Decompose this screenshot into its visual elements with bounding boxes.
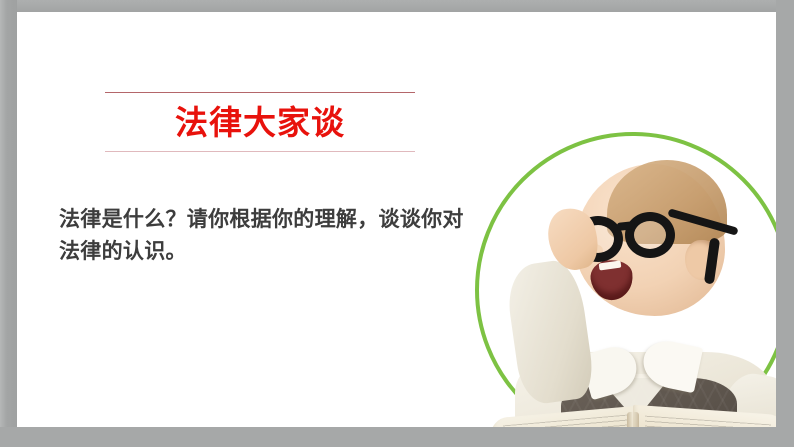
frame-border-right xyxy=(776,0,794,447)
title-block: 法律大家谈 xyxy=(105,92,415,152)
page-title: 法律大家谈 xyxy=(105,93,415,151)
book-spine xyxy=(627,412,639,427)
presentation-slide: 法律大家谈 法律是什么？请你根据你的理解，谈谈你对法律的认识。 xyxy=(0,0,794,447)
slide-canvas: 法律大家谈 法律是什么？请你根据你的理解，谈谈你对法律的认识。 xyxy=(17,12,776,427)
frame-border-left xyxy=(0,0,17,447)
body-paragraph: 法律是什么？请你根据你的理解，谈谈你对法律的认识。 xyxy=(59,204,479,268)
glasses-lens-right xyxy=(625,212,675,258)
title-rule-bottom xyxy=(105,151,415,152)
photo-composition xyxy=(457,112,776,427)
frame-border-top xyxy=(0,0,794,12)
frame-border-bottom xyxy=(0,427,794,447)
baby-illustration xyxy=(457,112,776,427)
